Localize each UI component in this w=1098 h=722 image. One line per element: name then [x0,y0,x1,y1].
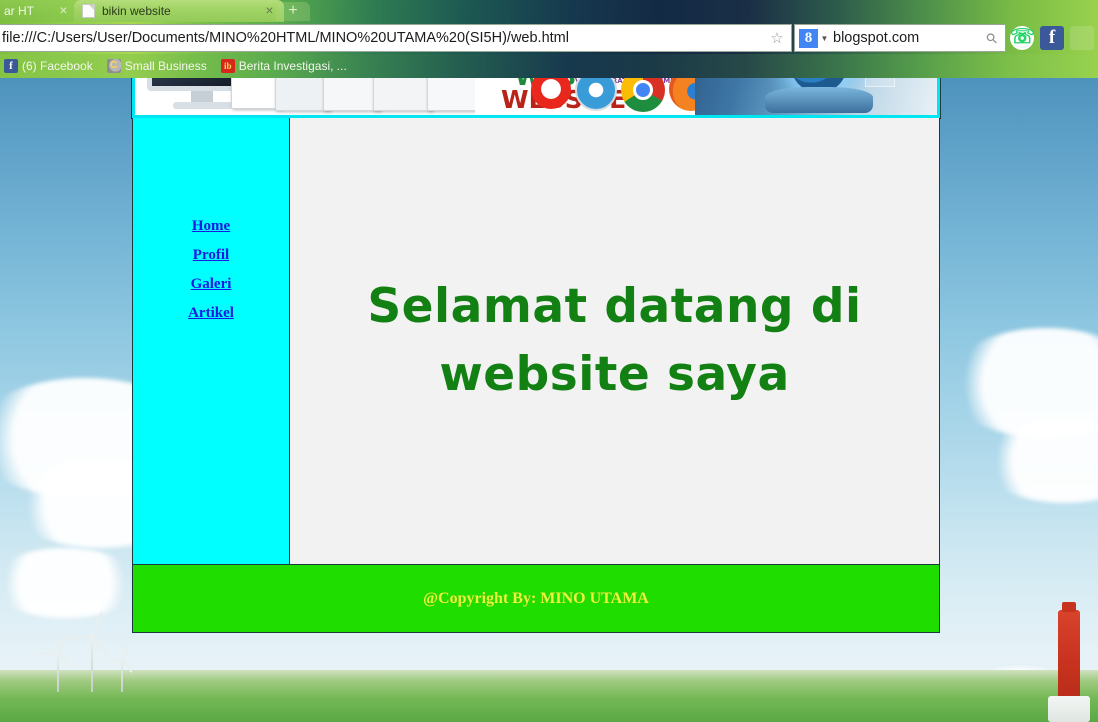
bookmark-label: Small Business [125,59,207,73]
nav-item-profil[interactable]: Profil [133,247,289,264]
omnibox-row: file:///C:/Users/User/Documents/MINO%20H… [0,22,1098,54]
search-input[interactable]: blogspot.com [831,30,979,46]
tab-bikin-website[interactable]: bikin website × [74,0,284,22]
nav-item-home[interactable]: Home [133,218,289,235]
hand-graphic [765,87,873,113]
extension-icon[interactable] [1070,26,1094,50]
welcome-heading: Selamat datang di website saya [308,273,921,409]
copyright-text: @Copyright By: MINO UTAMA [423,590,649,608]
bookmarks-bar: f (6) Facebook C Small Business ib Berit… [0,54,1098,78]
content-row: Home Profil Galeri Artikel Selamat datan… [132,118,940,565]
site-icon: ib [221,59,235,73]
close-icon[interactable]: × [57,4,70,17]
close-icon[interactable]: × [263,4,276,17]
tab-strip: ar HT × bikin website × + [0,0,1098,22]
tab-title: ar HT [4,4,34,18]
web-page: Learn how to design your own style. MARK… [132,10,940,636]
google-icon: 8 [799,29,818,48]
bookmark-star-icon[interactable]: ☆ [763,29,791,47]
red-tower [1058,610,1080,722]
chevron-down-icon[interactable]: ▼ [818,34,831,43]
bookmark-small-business[interactable]: C Small Business [107,59,207,73]
facebook-extension-icon[interactable]: f [1040,26,1064,50]
nav-item-galeri[interactable]: Galeri [133,276,289,293]
sidebar: Home Profil Galeri Artikel [133,118,290,564]
main-navigation: Home Profil Galeri Artikel [133,206,289,476]
site-footer: @Copyright By: MINO UTAMA [132,565,940,633]
grass-field [0,670,1098,722]
bookmark-label: Berita Investigasi, ... [239,59,347,73]
bookmark-berita-investigasi[interactable]: ib Berita Investigasi, ... [221,59,347,73]
cloud [0,548,140,618]
tab-belajar-html[interactable]: ar HT × [0,0,78,22]
page-favicon-icon [82,4,95,18]
whatsapp-extension-icon[interactable]: ☏ [1010,26,1034,50]
browser-chrome: ar HT × bikin website × + file:///C:/Use… [0,0,1098,78]
bookmark-facebook[interactable]: f (6) Facebook [4,59,93,73]
new-tab-button[interactable]: + [276,2,310,21]
url-text[interactable]: file:///C:/Users/User/Documents/MINO%20H… [0,30,763,46]
main-content: Selamat datang di website saya [290,118,939,564]
star-icon: C [107,59,121,73]
screen: Learn how to design your own style. MARK… [0,0,1098,722]
search-bar[interactable]: 8 ▼ blogspot.com ⚲ [794,24,1006,52]
search-icon[interactable]: ⚲ [977,23,1007,53]
nav-item-artikel[interactable]: Artikel [133,305,289,322]
facebook-icon: f [4,59,18,73]
address-bar[interactable]: file:///C:/Users/User/Documents/MINO%20H… [0,24,792,52]
bookmark-label: (6) Facebook [22,59,93,73]
tab-title: bikin website [102,4,171,18]
